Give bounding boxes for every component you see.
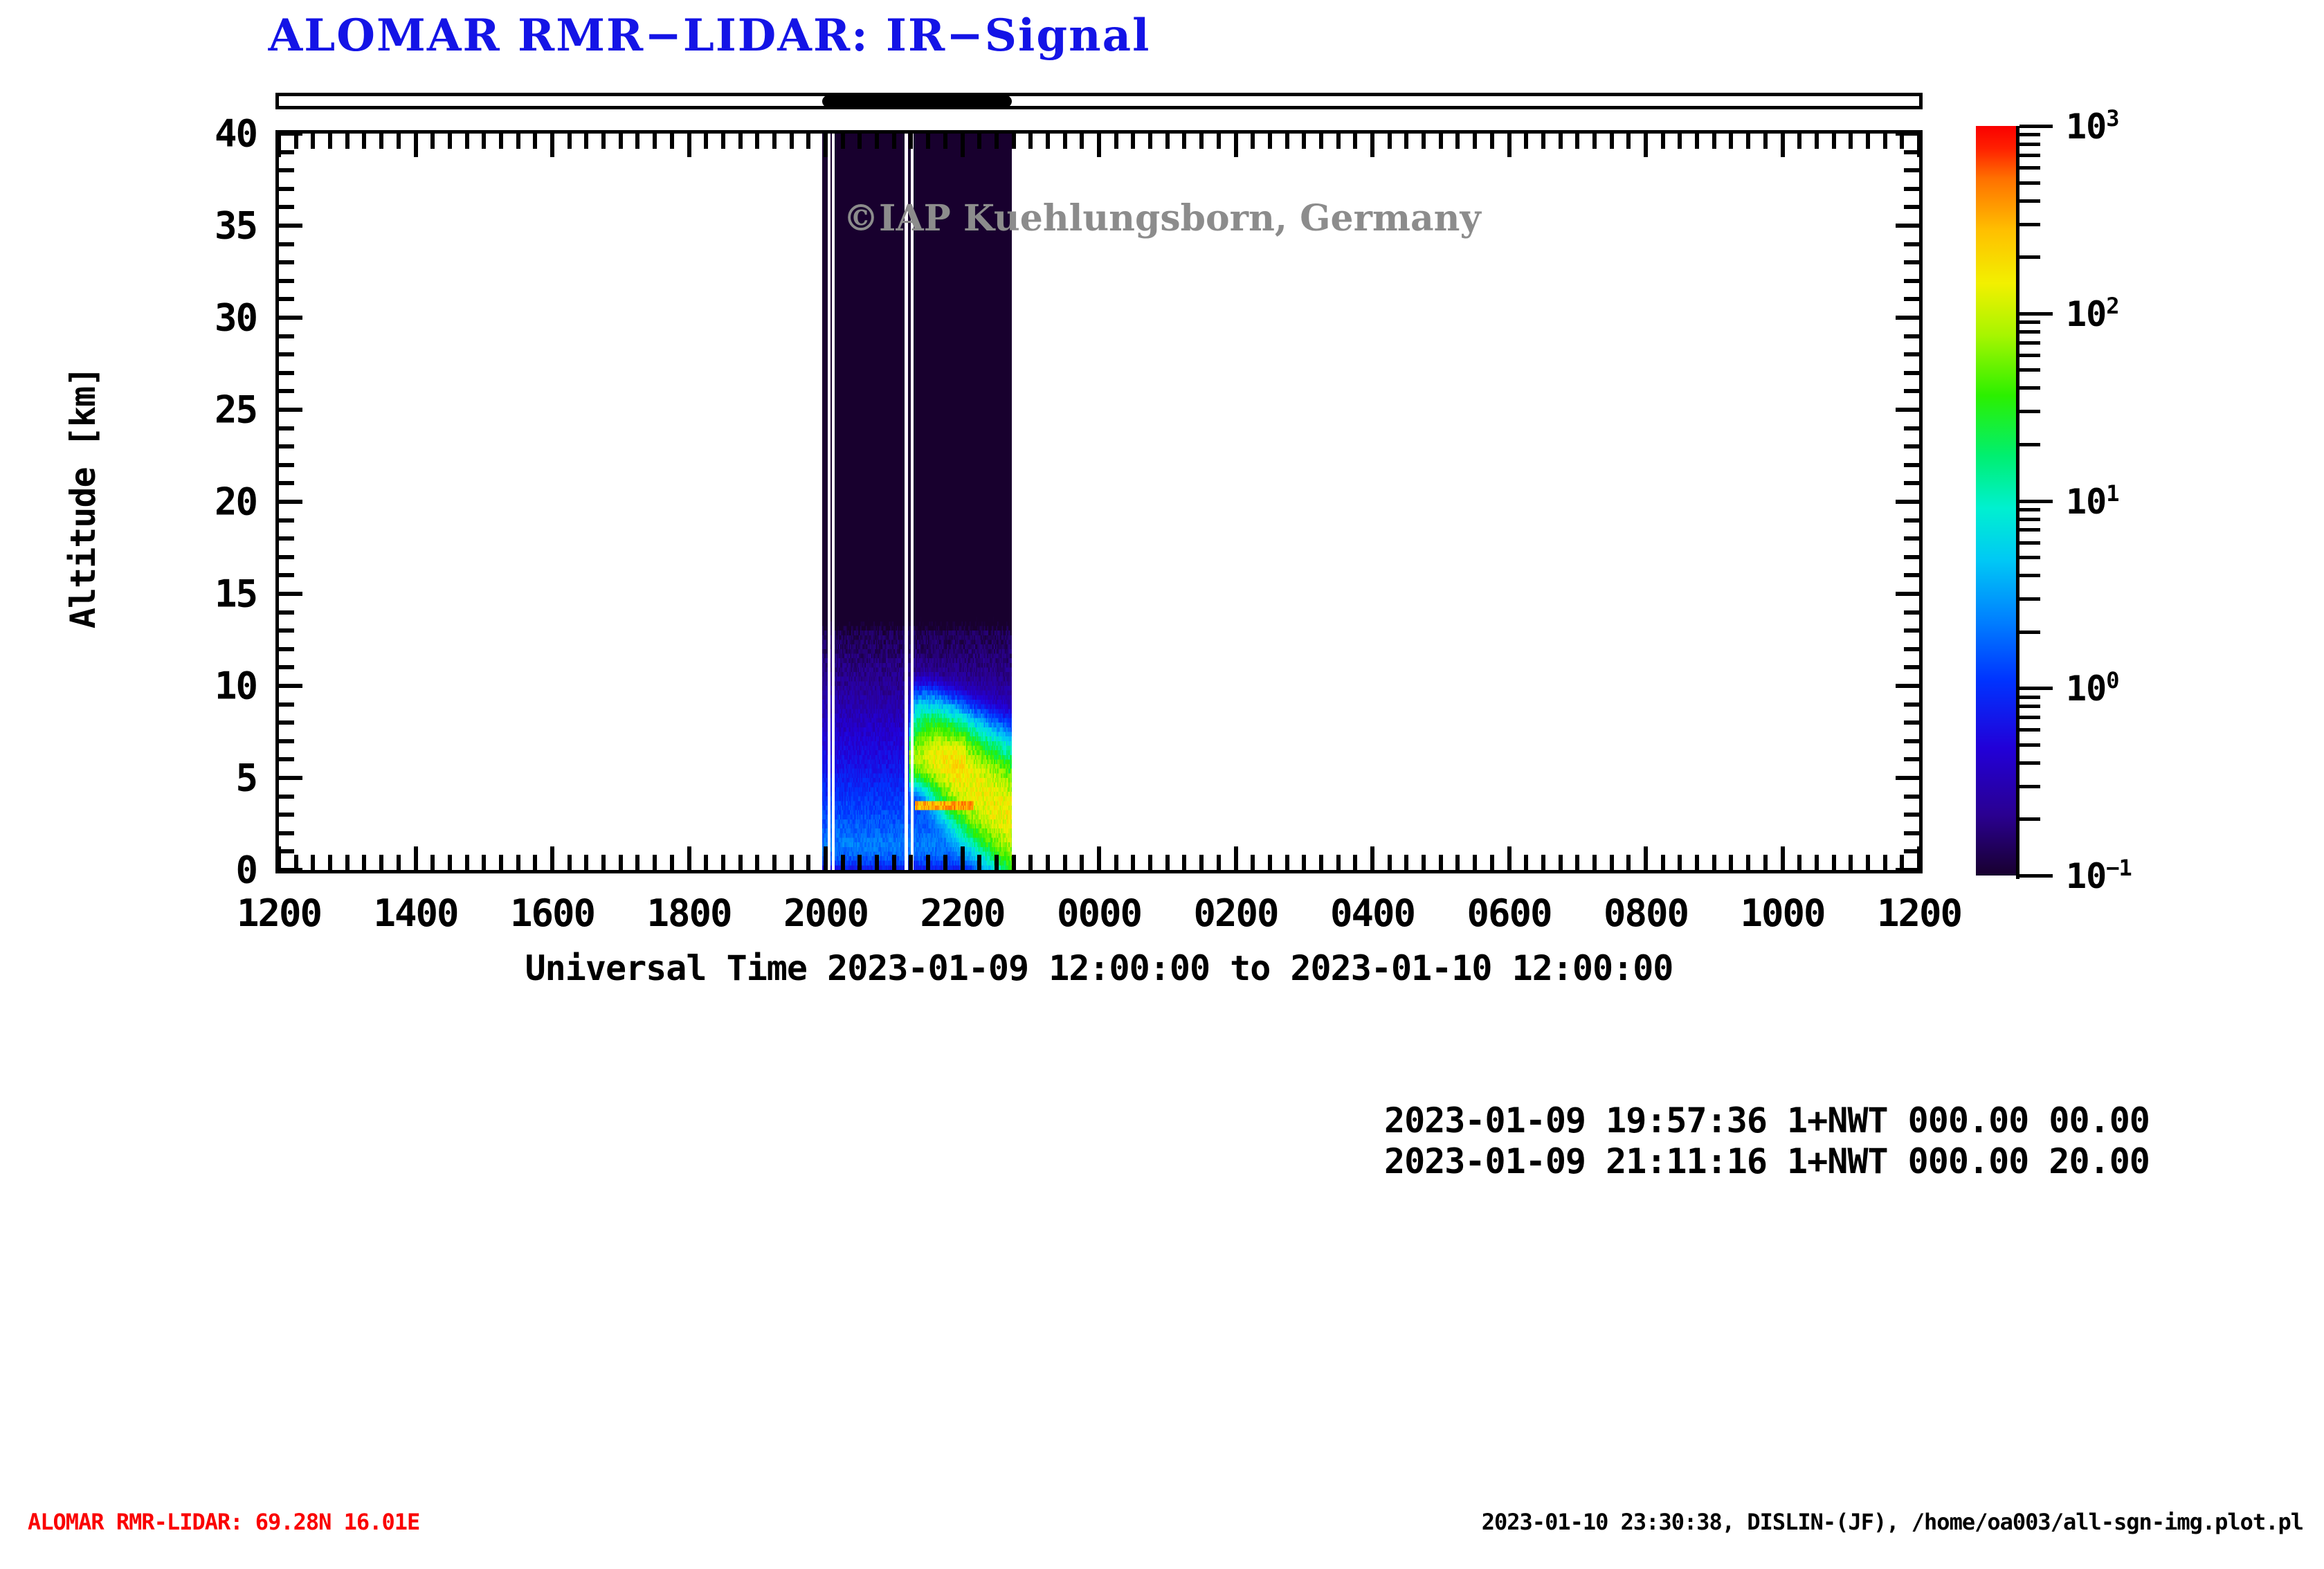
colorbar-tick-minor <box>2019 443 2040 446</box>
measurement-annotations: 2023-01-09 19:57:36 1+NWT 000.00 00.0020… <box>1384 1100 2150 1182</box>
data-gap-column <box>905 134 908 870</box>
annotation-line: 2023-01-09 21:11:16 1+NWT 000.00 20.00 <box>1384 1141 2150 1182</box>
x-tick-label: 2200 <box>920 891 1004 935</box>
colorbar-tick-label: 103 <box>2066 105 2118 147</box>
colorbar-tick-minor <box>2019 743 2040 747</box>
colorbar-tick-major <box>2019 125 2053 128</box>
colorbar-tick-minor <box>2019 354 2040 357</box>
colorbar-tick-minor <box>2019 574 2040 577</box>
x-tick-label: 0000 <box>1057 891 1141 935</box>
data-gap-column <box>911 134 914 870</box>
data-gap-column <box>828 134 830 870</box>
colorbar-tick-minor <box>2019 785 2040 788</box>
lidar-signal-raster <box>822 134 1012 870</box>
colorbar-tick-major <box>2019 687 2053 690</box>
y-tick-label: 25 <box>215 388 257 432</box>
colorbar-tick-minor <box>2019 386 2040 390</box>
x-tick-label: 0600 <box>1467 891 1551 935</box>
x-tick-label: 0200 <box>1193 891 1278 935</box>
y-tick-label: 5 <box>235 756 257 800</box>
x-tick-label: 1000 <box>1740 891 1824 935</box>
colorbar-tick-minor <box>2019 716 2040 719</box>
y-tick-label: 30 <box>215 296 257 340</box>
y-tick-label: 10 <box>215 664 257 708</box>
y-tick-label: 15 <box>215 572 257 616</box>
plot-top-frame-line <box>275 106 1923 109</box>
colorbar-tick-minor <box>2019 556 2040 559</box>
y-axis-tick-labels: 0510152025303540 <box>0 0 259 1569</box>
colorbar-tick-label: 102 <box>2066 293 2118 334</box>
data-gap-column <box>832 134 835 870</box>
colorbar-tick-minor <box>2019 255 2040 259</box>
colorbar-tick-label: 101 <box>2066 480 2118 522</box>
colorbar-tick-minor <box>2019 728 2040 732</box>
colorbar-tick-minor <box>2019 508 2040 511</box>
x-tick-label: 0800 <box>1604 891 1688 935</box>
colorbar-gradient <box>1976 126 2016 876</box>
x-tick-label: 0400 <box>1330 891 1415 935</box>
colorbar-tick-minor <box>2019 154 2040 157</box>
colorbar-tick-minor <box>2019 166 2040 170</box>
colorbar-tick-major <box>2019 312 2053 316</box>
annotation-line: 2023-01-09 19:57:36 1+NWT 000.00 00.00 <box>1384 1100 2150 1141</box>
copyright-watermark: ©IAP Kuehlungsborn, Germany <box>843 197 1481 239</box>
colorbar-tick-label: 10−1 <box>2066 855 2132 896</box>
colorbar-tick-minor <box>2019 320 2040 324</box>
colorbar-tick-minor <box>2019 143 2040 146</box>
colorbar-tick-minor <box>2019 597 2040 601</box>
y-tick-label: 35 <box>215 204 257 248</box>
x-tick-label: 1200 <box>1877 891 1961 935</box>
colorbar-tick-major <box>2019 500 2053 503</box>
colorbar-tick-label: 100 <box>2066 667 2118 709</box>
footer-station-info: ALOMAR RMR-LIDAR: 69.28N 16.01E <box>28 1509 419 1535</box>
colorbar-tick-minor <box>2019 696 2040 699</box>
y-tick-label: 20 <box>215 480 257 524</box>
colorbar-tick-minor <box>2019 541 2040 545</box>
colorbar-tick-minor <box>2019 341 2040 345</box>
x-tick-label: 2000 <box>783 891 868 935</box>
colorbar-tick-minor <box>2019 199 2040 203</box>
x-tick-label: 1800 <box>646 891 731 935</box>
colorbar-tick-minor <box>2019 631 2040 634</box>
colorbar-tick-minor <box>2019 518 2040 521</box>
colorbar-tick-minor <box>2019 223 2040 226</box>
colorbar-tick-major <box>2019 874 2053 878</box>
y-axis-title: Altitude [km] <box>63 186 103 809</box>
footer-generator-info: 2023-01-10 23:30:38, DISLIN-(JF), /home/… <box>1482 1509 2303 1535</box>
colorbar-tick-minor <box>2019 817 2040 821</box>
colorbar-tick-minor <box>2019 410 2040 413</box>
measurement-period-bar <box>822 96 1012 107</box>
plot-data-area <box>279 134 1919 870</box>
colorbar-tick-minor <box>2019 705 2040 708</box>
colorbar-tick-minor <box>2019 368 2040 372</box>
colorbar-tick-minor <box>2019 133 2040 136</box>
colorbar-tick-minor <box>2019 330 2040 334</box>
x-axis-title: Universal Time 2023-01-09 12:00:00 to 20… <box>275 948 1923 988</box>
x-tick-label: 1600 <box>510 891 594 935</box>
y-tick-label: 0 <box>235 849 257 892</box>
colorbar-tick-minor <box>2019 528 2040 532</box>
x-tick-label: 1400 <box>373 891 457 935</box>
y-tick-label: 40 <box>215 112 257 156</box>
colorbar-tick-minor <box>2019 181 2040 185</box>
colorbar-tick-minor <box>2019 761 2040 765</box>
